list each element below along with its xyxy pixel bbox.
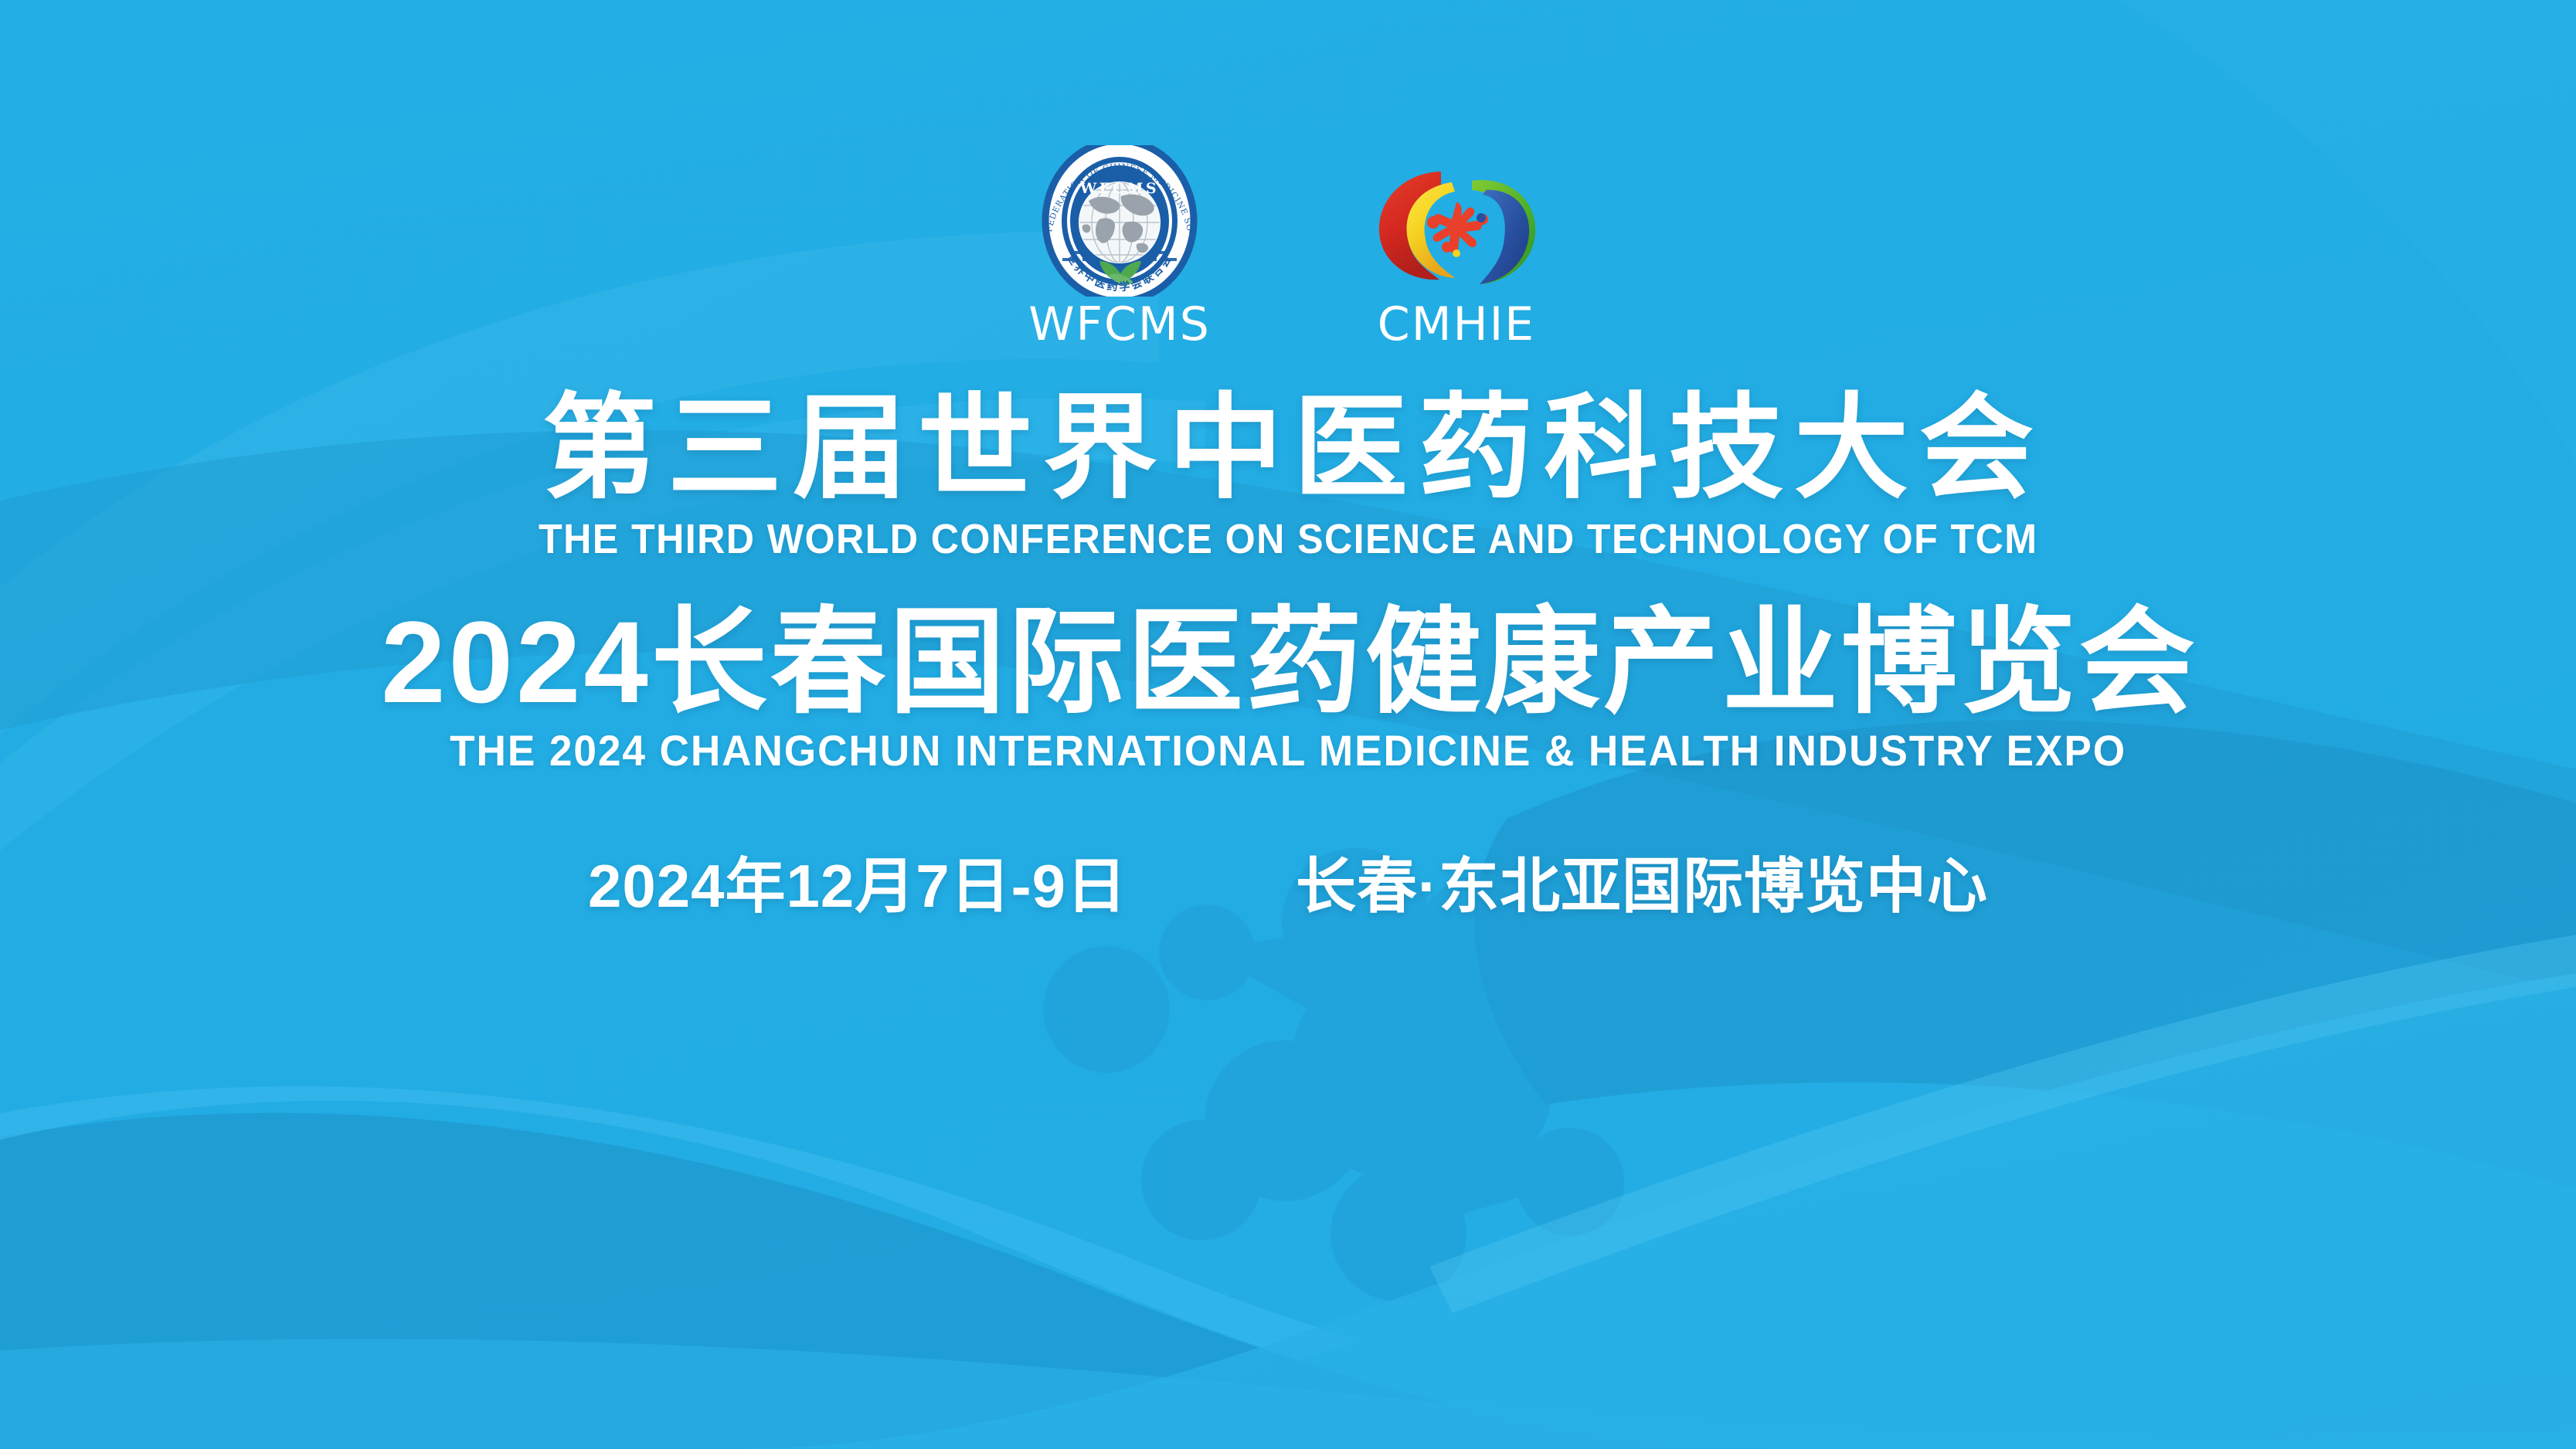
wfcms-center-text: WFCMS [1079, 180, 1159, 197]
banner-content: WFCMS WORLD FEDERATION OF CHINESE MEDICI… [0, 0, 2576, 1449]
logo-cmhie: CMHIE [1365, 145, 1548, 348]
logo-row: WFCMS WORLD FEDERATION OF CHINESE MEDICI… [1028, 145, 1548, 348]
event-date: 2024年12月7日-9日 [588, 856, 1127, 916]
wfcms-oval-globe-emblem: WFCMS WORLD FEDERATION OF CHINESE MEDICI… [1028, 145, 1211, 297]
cmhie-splash-icon [1427, 202, 1488, 253]
logo-wfcms: WFCMS WORLD FEDERATION OF CHINESE MEDICI… [1028, 145, 1211, 348]
expo-title-cn: 2024长春国际医药健康产业博览会 [378, 603, 2198, 721]
event-info-row: 2024年12月7日-9日 长春·东北亚国际博览中心 [588, 856, 1988, 916]
cmhie-heart-ribbon-emblem [1365, 145, 1548, 297]
expo-title-en: THE 2024 CHANGCHUN INTERNATIONAL MEDICIN… [450, 729, 2126, 772]
conference-title-cn: 第三届世界中医药科技大会 [532, 391, 2044, 507]
logo-label-wfcms: WFCMS [1028, 301, 1211, 348]
event-venue: 长春·东北亚国际博览中心 [1296, 856, 1988, 916]
conference-title-en: THE THIRD WORLD CONFERENCE ON SCIENCE AN… [539, 518, 2037, 560]
conference-banner: WFCMS WORLD FEDERATION OF CHINESE MEDICI… [0, 0, 2576, 1449]
logo-label-cmhie: CMHIE [1378, 301, 1535, 348]
